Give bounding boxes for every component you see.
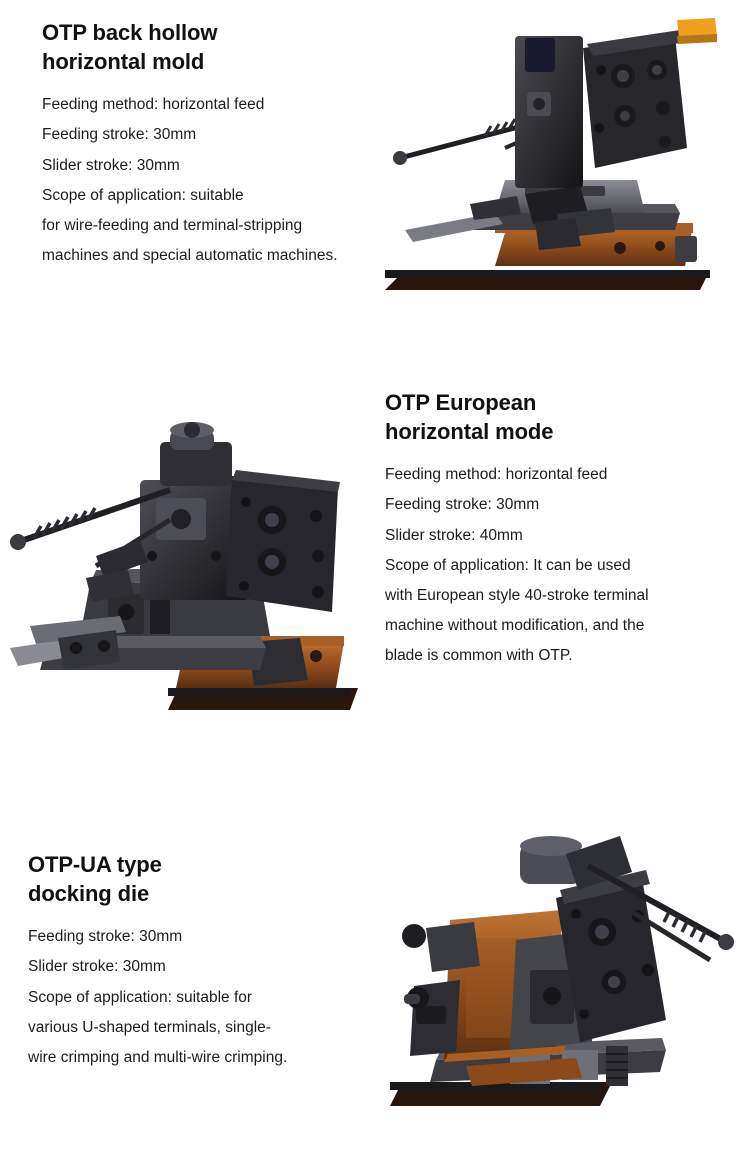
page-title-3: OTP-UA type docking die xyxy=(28,850,358,908)
spec-line: various U-shaped terminals, single- xyxy=(28,1013,358,1043)
spec-line: Feeding stroke: 30mm xyxy=(28,922,358,952)
spec-line: Feeding method: horizontal feed xyxy=(385,460,735,490)
spec-line: blade is common with OTP. xyxy=(385,641,735,671)
page-title-2: OTP European horizontal mode xyxy=(385,388,735,446)
spec-line: Scope of application: suitable for xyxy=(28,983,358,1013)
spec-line: wire crimping and multi-wire crimping. xyxy=(28,1043,358,1073)
heading-line-1: OTP back hollow xyxy=(42,20,217,45)
heading-line-2: docking die xyxy=(28,881,149,906)
spec-line: Feeding stroke: 30mm xyxy=(42,120,392,150)
spec-line: Feeding method: horizontal feed xyxy=(42,90,392,120)
otp-european-horizontal-mode-photo xyxy=(0,380,370,740)
spec-line: Slider stroke: 30mm xyxy=(28,952,358,982)
section-otp-european-horizontal-mode: OTP European horizontal mode Feeding met… xyxy=(0,380,750,800)
spec-line: with European style 40-stroke terminal xyxy=(385,581,735,611)
section-otp-ua-type-docking-die: OTP-UA type docking die Feeding stroke: … xyxy=(0,800,750,1160)
spec-line: Slider stroke: 30mm xyxy=(42,151,392,181)
text-block-2: OTP European horizontal mode Feeding met… xyxy=(385,388,735,672)
spec-line: machine without modification, and the xyxy=(385,611,735,641)
section-otp-back-hollow-horizontal-mold: OTP back hollow horizontal mold Feeding … xyxy=(0,0,750,380)
spec-line: Feeding stroke: 30mm xyxy=(385,490,735,520)
otp-back-hollow-horizontal-mold-photo xyxy=(375,8,725,308)
page-title-1: OTP back hollow horizontal mold xyxy=(42,18,392,76)
spec-line: for wire-feeding and terminal-stripping xyxy=(42,211,392,241)
heading-line-1: OTP-UA type xyxy=(28,852,162,877)
spec-line: machines and special automatic machines. xyxy=(42,241,392,271)
text-block-3: OTP-UA type docking die Feeding stroke: … xyxy=(28,850,358,1073)
heading-line-2: horizontal mold xyxy=(42,49,204,74)
otp-ua-type-docking-die-photo xyxy=(370,810,750,1130)
spec-line: Scope of application: suitable xyxy=(42,181,392,211)
heading-line-2: horizontal mode xyxy=(385,419,553,444)
spec-line: Scope of application: It can be used xyxy=(385,551,735,581)
heading-line-1: OTP European xyxy=(385,390,536,415)
spec-line: Slider stroke: 40mm xyxy=(385,521,735,551)
text-block-1: OTP back hollow horizontal mold Feeding … xyxy=(42,18,392,271)
